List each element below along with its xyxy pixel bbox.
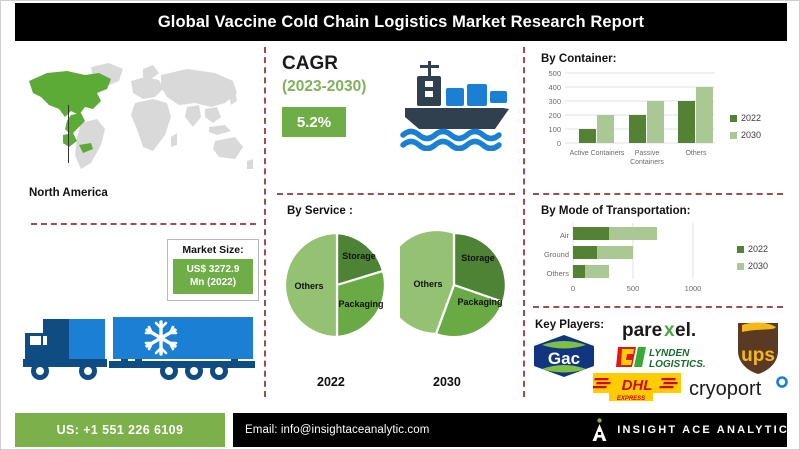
column-divider-1 bbox=[264, 47, 266, 397]
cagr-period: (2023-2030) bbox=[282, 78, 366, 96]
map-pointer-line bbox=[68, 105, 69, 163]
right-section-divider-1 bbox=[533, 193, 783, 195]
column-divider-2 bbox=[523, 47, 525, 397]
svg-text:Active Containers: Active Containers bbox=[570, 150, 625, 157]
legend-label-2030: 2030 bbox=[741, 130, 761, 140]
svg-text:Storage: Storage bbox=[342, 251, 376, 261]
svg-text:ups: ups bbox=[741, 345, 775, 366]
logo-ups: ups bbox=[734, 319, 782, 375]
svg-text:200: 200 bbox=[548, 111, 561, 120]
legend-label-2030-mode: 2030 bbox=[748, 261, 768, 271]
svg-text:Containers: Containers bbox=[630, 159, 664, 166]
container-chart-legend: 2022 2030 bbox=[730, 113, 761, 147]
left-section-divider bbox=[31, 223, 256, 225]
legend-label-2022-mode: 2022 bbox=[748, 244, 768, 254]
svg-text:cryoport: cryoport bbox=[689, 378, 762, 399]
legend-swatch-2030 bbox=[730, 132, 737, 139]
region-label: North America bbox=[29, 187, 108, 199]
logo-lynden-logistics: LYNDEN LOGISTICS. bbox=[616, 344, 726, 370]
footer-email-text[interactable]: Email: info@insightaceanalytic.com bbox=[245, 424, 429, 436]
refrigerated-truck-icon bbox=[9, 305, 259, 385]
svg-text:pare: pare bbox=[622, 320, 662, 341]
svg-text:300: 300 bbox=[548, 97, 561, 106]
svg-text:500: 500 bbox=[627, 284, 640, 293]
cagr-label: CAGR bbox=[282, 53, 338, 75]
svg-text:Others: Others bbox=[546, 269, 569, 278]
mode-chart-legend: 2022 2030 bbox=[737, 244, 768, 278]
svg-text:500: 500 bbox=[548, 69, 561, 78]
legend-swatch-2022 bbox=[730, 115, 737, 122]
pie-chart-2022: Storage Packaging Others bbox=[283, 229, 391, 341]
svg-text:DHL: DHL bbox=[622, 377, 653, 394]
svg-text:x: x bbox=[664, 320, 675, 341]
section-title-key-players: Key Players: bbox=[535, 319, 604, 331]
svg-text:Packaging: Packaging bbox=[338, 299, 383, 309]
page-title: Global Vaccine Cold Chain Logistics Mark… bbox=[158, 13, 644, 32]
market-size-value-line2: Mn (2022) bbox=[175, 277, 251, 290]
infographic-root: Global Vaccine Cold Chain Logistics Mark… bbox=[0, 0, 800, 450]
middle-section-divider bbox=[277, 193, 515, 195]
svg-text:LOGISTICS.: LOGISTICS. bbox=[649, 359, 706, 370]
legend-item-2030: 2030 bbox=[730, 130, 761, 140]
svg-text:Air: Air bbox=[560, 231, 570, 240]
market-size-box: Market Size: US$ 3272.9 Mn (2022) bbox=[167, 239, 259, 301]
market-size-value-line1: US$ 3272.9 bbox=[175, 264, 251, 277]
legend-item-2022-mode: 2022 bbox=[737, 244, 768, 254]
footer-phone-box[interactable]: US: +1 551 226 6109 bbox=[15, 413, 225, 447]
logo-dhl: DHL EXPRESS bbox=[593, 373, 681, 401]
svg-text:Storage: Storage bbox=[461, 253, 495, 263]
logo-cryoport: cryoport bbox=[689, 375, 793, 399]
market-size-title: Market Size: bbox=[173, 244, 253, 256]
market-size-value: US$ 3272.9 Mn (2022) bbox=[173, 259, 253, 294]
svg-text:EXPRESS: EXPRESS bbox=[617, 396, 645, 401]
svg-text:Others: Others bbox=[685, 150, 707, 157]
insight-ace-mark-icon bbox=[591, 418, 608, 442]
svg-text:1000: 1000 bbox=[685, 284, 702, 293]
pie-chart-2030-year: 2030 bbox=[433, 375, 461, 389]
logo-gac: Gac bbox=[528, 333, 600, 379]
logo-parexel: pare x el. bbox=[622, 319, 725, 341]
section-title-by-container: By Container: bbox=[541, 53, 616, 65]
container-ship-icon bbox=[391, 59, 513, 151]
legend-label-2022: 2022 bbox=[741, 113, 761, 123]
svg-text:Gac: Gac bbox=[548, 349, 580, 368]
section-title-by-service: By Service : bbox=[287, 205, 353, 217]
brand-name: INSIGHT ACE ANALYTIC bbox=[617, 424, 789, 436]
mode-bar-chart: Air Ground Others 0 500 1000 bbox=[535, 221, 727, 301]
pie-chart-2022-year: 2022 bbox=[317, 375, 345, 389]
svg-text:el.: el. bbox=[675, 320, 696, 341]
legend-item-2030-mode: 2030 bbox=[737, 261, 768, 271]
svg-text:400: 400 bbox=[548, 83, 561, 92]
pie-chart-2030: Storage Packaging Others bbox=[400, 229, 508, 341]
svg-text:Others: Others bbox=[294, 281, 323, 291]
footer-phone-text: US: +1 551 226 6109 bbox=[57, 423, 184, 437]
svg-text:Ground: Ground bbox=[544, 250, 569, 259]
cagr-value: 5.2% bbox=[282, 107, 346, 137]
brand-logo: INSIGHT ACE ANALYTIC bbox=[591, 413, 789, 447]
svg-text:0: 0 bbox=[557, 139, 561, 148]
legend-item-2022: 2022 bbox=[730, 113, 761, 123]
legend-swatch-2030-mode bbox=[737, 263, 744, 270]
svg-text:Others: Others bbox=[413, 279, 442, 289]
svg-text:Packaging: Packaging bbox=[457, 297, 502, 307]
svg-text:LYNDEN: LYNDEN bbox=[649, 348, 690, 359]
svg-text:100: 100 bbox=[548, 125, 561, 134]
svg-text:0: 0 bbox=[571, 284, 575, 293]
container-bar-chart: 500 400 300 200 100 0 Active Containers … bbox=[535, 67, 725, 172]
legend-swatch-2022-mode bbox=[737, 246, 744, 253]
section-title-by-mode: By Mode of Transportation: bbox=[541, 205, 691, 217]
right-section-divider-2 bbox=[533, 306, 783, 308]
page-title-bar: Global Vaccine Cold Chain Logistics Mark… bbox=[15, 3, 787, 41]
world-map bbox=[19, 59, 257, 179]
svg-text:Passive: Passive bbox=[635, 150, 660, 157]
